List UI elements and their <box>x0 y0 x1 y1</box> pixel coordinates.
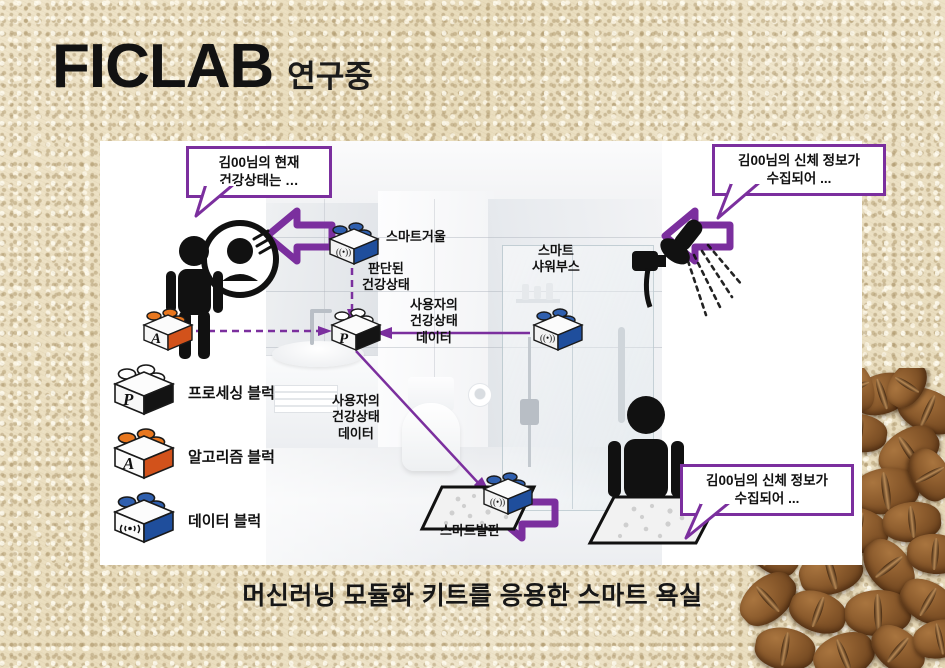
legend-item-processing: P 프로세싱 블럭 <box>108 363 276 421</box>
shower-head-icon <box>628 211 748 326</box>
block-processing-diagram: P <box>326 307 388 358</box>
label-smart-footpad: 스마트발판 <box>440 523 500 539</box>
legend-item-data: 데이터 블럭 <box>108 491 276 549</box>
svg-text:P: P <box>339 331 349 347</box>
processing-block-icon: P <box>108 363 180 422</box>
svg-text:((•)): ((•)) <box>336 247 351 257</box>
label-judged-health: 판단된 건강상태 <box>362 261 410 294</box>
label-smart-shower: 스마트 샤워부스 <box>532 243 580 276</box>
svg-text:P: P <box>122 390 134 409</box>
legend-label-processing: 프로세싱 블럭 <box>188 382 275 403</box>
legend-label-algorithm: 알고리즘 블럭 <box>188 446 275 467</box>
brand-title: FICLAB <box>52 36 273 98</box>
callout-footpad-tail <box>672 502 742 542</box>
svg-text:A: A <box>122 454 134 473</box>
block-smart-footpad: ((•)) <box>478 471 540 522</box>
callout-shower-tail <box>702 182 772 222</box>
legend-label-data: 데이터 블럭 <box>188 510 261 531</box>
label-smart-mirror: 스마트거울 <box>386 229 446 245</box>
data-block-icon <box>108 491 180 550</box>
svg-text:((•)): ((•)) <box>540 333 555 343</box>
block-algorithm-diagram: A <box>138 307 200 358</box>
slide-caption: 머신러닝 모듈화 키트를 응용한 스마트 욕실 <box>0 576 945 612</box>
svg-text:A: A <box>150 331 161 347</box>
callout-mirror-tail <box>178 184 248 220</box>
block-legend: P 프로세싱 블럭 A 알고리즘 블럭 <box>108 363 276 555</box>
slide-title-row: FICLAB 연구중 <box>52 36 373 98</box>
status-label: 연구중 <box>287 61 373 92</box>
legend-item-algorithm: A 알고리즘 블럭 <box>108 427 276 485</box>
svg-text:((•)): ((•)) <box>490 497 505 507</box>
label-user-health-lower: 사용자의 건강상태 데이터 <box>332 393 380 442</box>
block-smart-shower: ((•)) <box>528 307 590 358</box>
label-user-health-upper: 사용자의 건강상태 데이터 <box>410 297 458 346</box>
algorithm-block-icon: A <box>108 427 180 486</box>
